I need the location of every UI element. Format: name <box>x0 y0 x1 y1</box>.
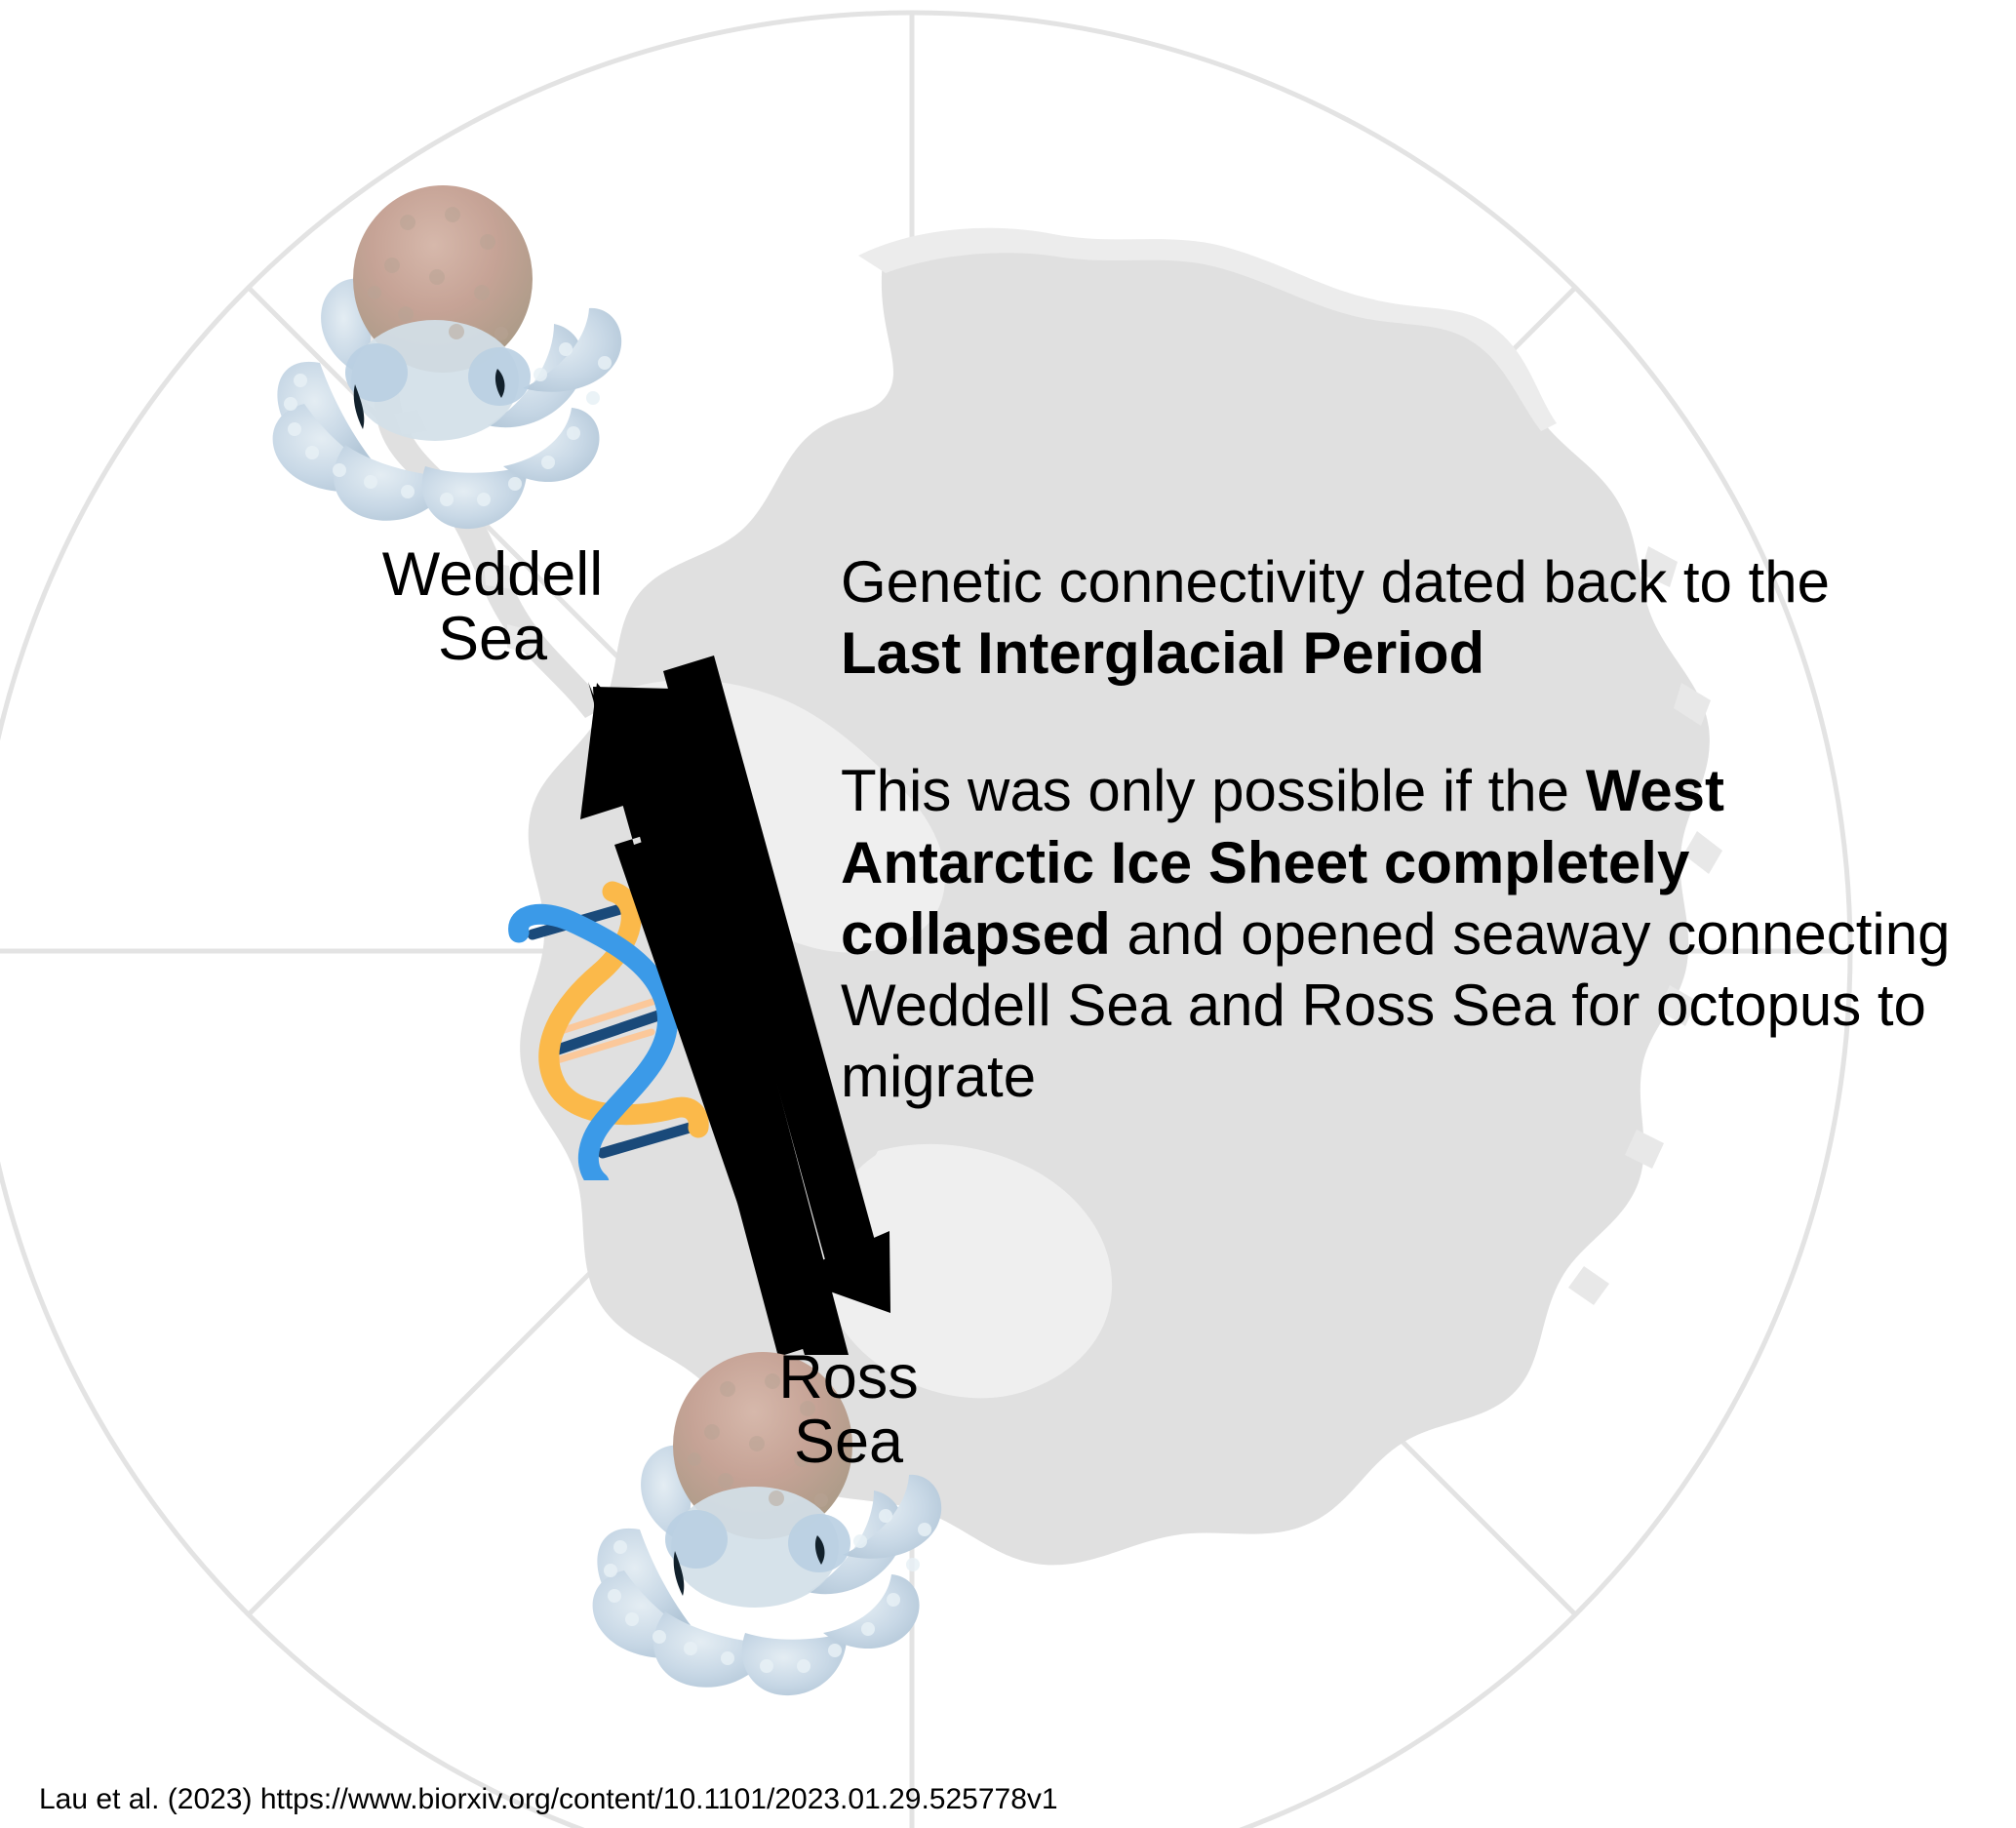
octopus-weddell-sea <box>261 178 626 538</box>
figure-canvas: Weddell Sea Ross Sea Genetic connectivit… <box>0 0 2016 1828</box>
callout-p1-plain: Genetic connectivity dated back to the <box>841 549 1830 615</box>
callout-paragraph-2: This was only possible if the West Antar… <box>841 755 1962 1112</box>
callout-p2-plain-a: This was only possible if the <box>841 758 1586 823</box>
callout-text-block: Genetic connectivity dated back to the L… <box>841 546 1962 1112</box>
source-citation: Lau et al. (2023) https://www.biorxiv.or… <box>39 1783 1058 1816</box>
ross-sea-label: Ross Sea <box>722 1346 975 1474</box>
callout-paragraph-1: Genetic connectivity dated back to the L… <box>841 546 1962 689</box>
callout-paragraph-gap <box>841 689 1962 755</box>
weddell-sea-label: Weddell Sea <box>351 543 634 671</box>
callout-p1-bold: Last Interglacial Period <box>841 620 1484 686</box>
